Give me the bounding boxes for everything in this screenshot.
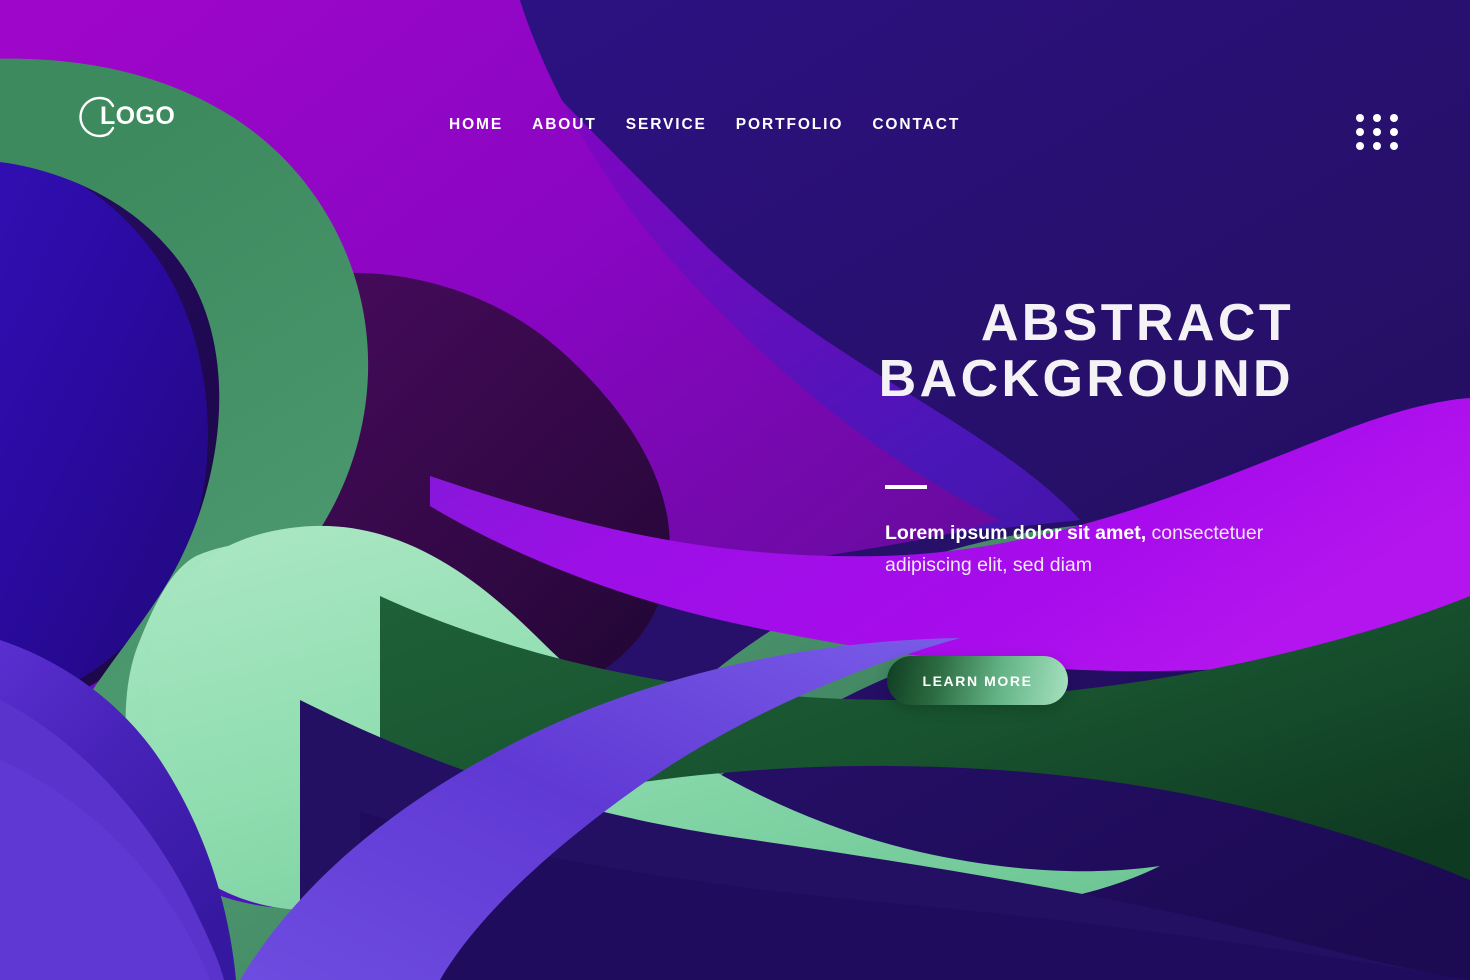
main-navigation: HOME ABOUT SERVICE PORTFOLIO CONTACT [449,117,960,133]
grid-dot [1356,128,1364,136]
grid-dot [1390,128,1398,136]
nav-item-contact[interactable]: CONTACT [872,117,960,133]
grid-dot [1373,128,1381,136]
nav-item-service[interactable]: SERVICE [626,117,707,133]
grid-dot [1373,114,1381,122]
brand-name: LOGO [100,104,175,129]
hero-paragraph-bold: Lorem ipsum dolor sit amet, [885,522,1146,544]
nav-item-portfolio[interactable]: PORTFOLIO [736,117,844,133]
grid-dot [1390,142,1398,150]
nav-item-about[interactable]: ABOUT [532,117,597,133]
grid-dot [1390,114,1398,122]
grid-dot [1356,142,1364,150]
grid-dots-icon[interactable] [1356,114,1392,146]
hero-paragraph: Lorem ipsum dolor sit amet, consectetuer… [885,518,1305,581]
abstract-background-art [0,0,1470,980]
nav-item-home[interactable]: HOME [449,117,503,133]
landing-page: LOGO HOME ABOUT SERVICE PORTFOLIO CONTAC… [0,0,1470,980]
grid-dot [1373,142,1381,150]
hero-divider [885,485,927,489]
hero-title: ABSTRACT BACKGROUND [674,295,1294,407]
brand-logo[interactable]: LOGO [78,104,175,129]
learn-more-button[interactable]: LEARN MORE [887,656,1068,705]
grid-dot [1356,114,1364,122]
